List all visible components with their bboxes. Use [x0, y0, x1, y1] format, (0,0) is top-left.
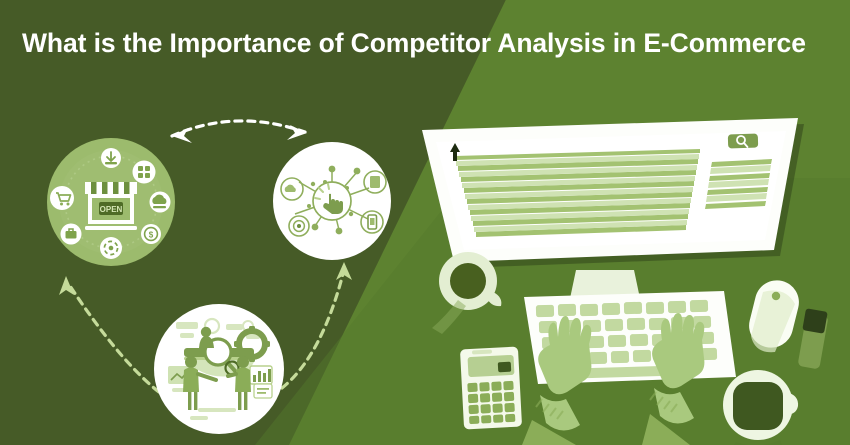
document-icon — [364, 171, 386, 193]
svg-text:OPEN: OPEN — [100, 205, 123, 214]
support-icon — [100, 237, 122, 259]
download-icon — [101, 148, 121, 168]
coffee-cup-right — [723, 370, 798, 445]
coffee-cup-left — [432, 252, 501, 334]
mobile-icon — [361, 211, 383, 233]
svg-text:$: $ — [149, 231, 154, 240]
computer-mouse[interactable] — [744, 276, 803, 353]
diagram-node-storefront: OPEN — [47, 138, 175, 266]
arrow-store-to-network — [172, 121, 307, 143]
banner-graphic: What is the Importance of Competitor Ana… — [0, 0, 850, 445]
shopping-cart-icon — [50, 186, 74, 210]
usb-flash-drive — [797, 308, 828, 369]
bar-chart-icon — [250, 366, 272, 384]
grid-icon — [133, 161, 156, 184]
search-button[interactable] — [728, 134, 758, 149]
scroll-wheel-icon — [772, 292, 780, 300]
person-seated — [199, 327, 214, 348]
diagram-node-analytics — [154, 304, 284, 434]
diagram-node-network — [273, 142, 391, 260]
target-icon — [289, 216, 309, 236]
cloud-icon — [281, 178, 303, 200]
hand-click-icon — [313, 182, 351, 220]
cloud-upload-icon — [150, 192, 171, 213]
briefcase-icon — [61, 224, 82, 245]
desk-workspace-illustration — [400, 0, 850, 445]
competitor-analysis-cycle-diagram: OPEN — [20, 110, 420, 435]
storefront-illustration: OPEN — [85, 182, 137, 230]
calculator[interactable] — [460, 347, 522, 430]
arrow-network-to-analytics — [282, 262, 352, 388]
clipboard-icon — [254, 384, 272, 398]
coin-icon: $ — [141, 224, 161, 244]
